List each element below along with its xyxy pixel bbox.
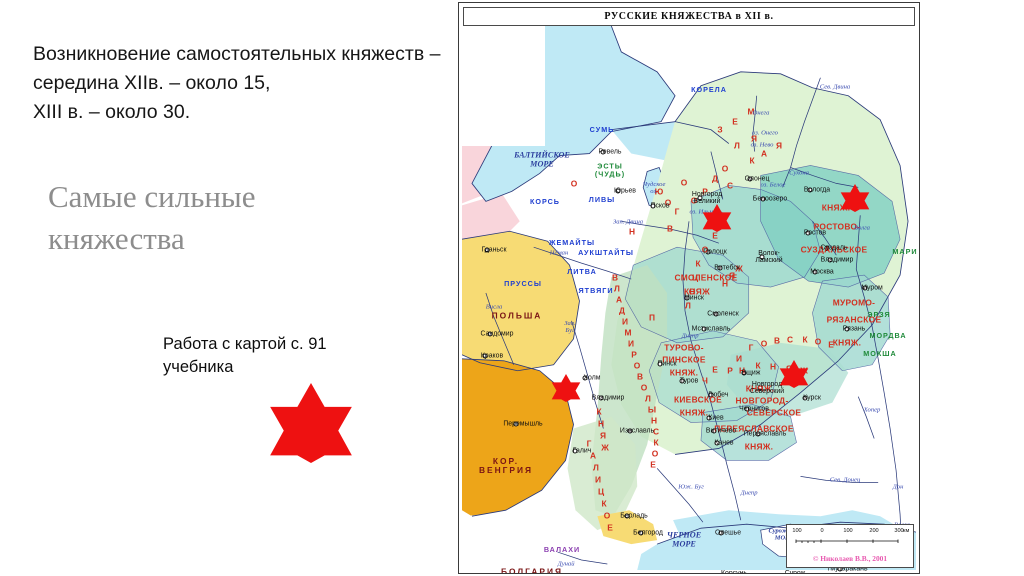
city-dot <box>514 422 519 427</box>
city-dot <box>658 362 663 367</box>
city-dot <box>825 246 830 251</box>
city-dot <box>702 327 707 332</box>
city-dot <box>685 296 690 301</box>
city-dot <box>719 531 724 536</box>
map-red-star-marker <box>840 184 870 212</box>
city-dot <box>742 371 747 376</box>
city-dot <box>761 197 766 202</box>
city-dot <box>583 376 588 381</box>
city-dot <box>715 441 720 446</box>
scale-tick: 100 <box>843 528 852 534</box>
city-dot <box>863 286 868 291</box>
city-dot <box>706 250 711 255</box>
city-dot <box>483 354 488 359</box>
red-star-legend-icon <box>268 383 354 463</box>
map-copyright: © Николаев В.В., 2001 <box>787 554 913 563</box>
city-label: Корсунь (Херсонес) <box>716 570 751 574</box>
city-dot <box>680 379 685 384</box>
city-label: Сурож (Судак) <box>783 570 807 574</box>
map-corner-cover <box>459 24 545 146</box>
city-dot <box>760 255 765 260</box>
city-dot <box>599 396 604 401</box>
city-dot <box>748 177 753 182</box>
city-dot <box>828 258 833 263</box>
strong-principalities-heading: Самые сильные княжества <box>48 176 378 260</box>
city-dot <box>698 196 703 201</box>
city-dot <box>845 327 850 332</box>
city-dot <box>756 432 761 437</box>
scale-tick: 200 <box>869 528 878 534</box>
city-dot <box>714 312 719 317</box>
city-dot <box>639 531 644 536</box>
scale-unit: км <box>903 528 909 534</box>
map-title: РУССКИЕ КНЯЖЕСТВА в XII в. <box>604 11 773 22</box>
city-dot <box>803 396 808 401</box>
city-dot <box>485 248 490 253</box>
city-dot <box>745 407 750 412</box>
city-dot <box>808 188 813 193</box>
slide-canvas: Возникновение самостоятельных княжеств –… <box>0 0 1024 576</box>
scale-tick-labels: 1000100200300км <box>791 528 909 537</box>
map-red-star-marker <box>702 204 732 232</box>
city-dot <box>718 266 723 271</box>
map-scale-box: 1000100200300км © Николаев В.В., 2001 <box>786 524 914 568</box>
city-dot <box>651 204 656 209</box>
city-dot <box>628 429 633 434</box>
city-dot <box>488 332 493 337</box>
intro-text: Возникновение самостоятельных княжеств –… <box>33 40 453 127</box>
map-red-star-marker <box>551 374 581 402</box>
city-dot <box>616 189 621 194</box>
city-dot <box>707 416 712 421</box>
scale-bar <box>795 539 899 546</box>
city-dot <box>712 429 717 434</box>
scale-tick: 100 <box>792 528 801 534</box>
city-dot <box>806 231 811 236</box>
historical-map: РУССКИЕ КНЯЖЕСТВА в XII в. <box>458 2 920 574</box>
city-dot <box>813 270 818 275</box>
city-dot <box>709 393 714 398</box>
map-red-star-marker <box>779 360 809 388</box>
city-dot <box>625 514 630 519</box>
city-dot <box>573 449 578 454</box>
city-dot <box>601 150 606 155</box>
scale-tick: 0 <box>820 528 823 534</box>
map-title-bar: РУССКИЕ КНЯЖЕСТВА в XII в. <box>463 7 915 26</box>
city-dot <box>758 386 763 391</box>
textbook-task-note: Работа с картой с. 91 учебника <box>163 333 413 379</box>
